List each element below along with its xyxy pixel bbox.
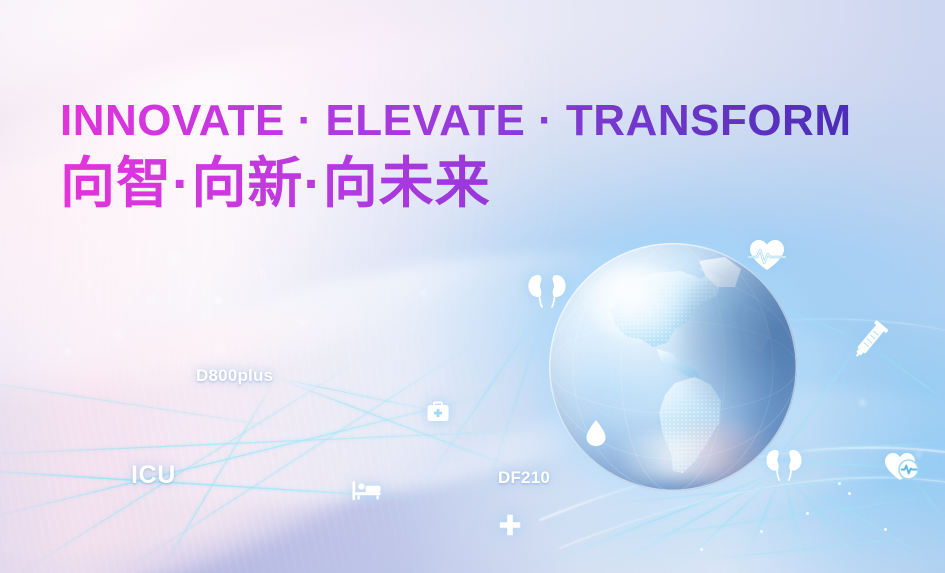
globe-rim-light xyxy=(549,243,797,491)
page-title: INNOVATE · ELEVATE · TRANSFORM xyxy=(60,98,852,144)
page-subtitle: 向智·向新·向未来 xyxy=(60,154,852,212)
kidneys-icon xyxy=(524,272,570,310)
medical-kit-icon xyxy=(426,400,450,423)
headline-block: INNOVATE · ELEVATE · TRANSFORM 向智·向新·向未来 xyxy=(60,98,852,212)
medical-cross-icon xyxy=(499,514,521,536)
blood-drop-icon xyxy=(585,419,607,447)
heart-pulse-icon xyxy=(748,238,786,272)
hero-banner: INNOVATE · ELEVATE · TRANSFORM 向智·向新·向未来… xyxy=(0,0,945,573)
earth-globe xyxy=(549,243,797,491)
product-tag-df210: DF210 xyxy=(498,468,550,488)
product-tag-d800plus: D800plus xyxy=(196,366,273,386)
kidneys-icon xyxy=(762,447,806,483)
syringe-icon xyxy=(848,318,892,362)
hospital-bed-icon xyxy=(352,479,382,501)
heart-monitor-icon xyxy=(884,450,920,482)
product-tag-icu: ICU xyxy=(131,461,176,490)
